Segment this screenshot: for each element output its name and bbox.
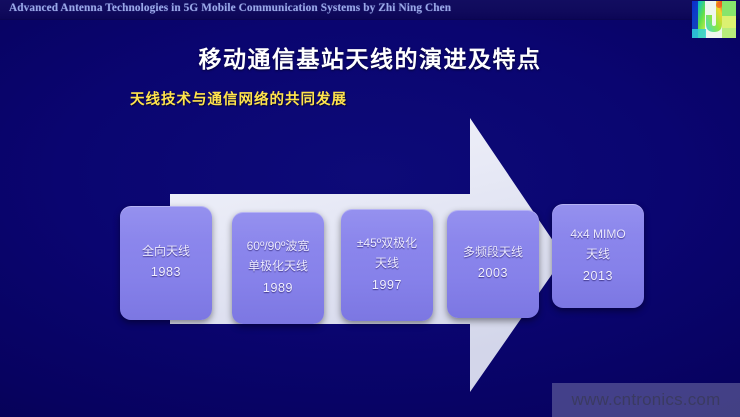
timeline-box-year: 2013: [583, 265, 613, 289]
page-subtitle: 天线技术与通信网络的共同发展: [130, 88, 347, 109]
timeline-box-year: 2003: [478, 262, 508, 286]
timeline-box-line: 单极化天线: [248, 256, 308, 277]
header-title: Advanced Antenna Technologies in 5G Mobi…: [9, 2, 451, 14]
timeline-box-line: 天线: [375, 253, 399, 274]
timeline-box-year: 1989: [263, 277, 293, 301]
timeline-box-year: 1983: [151, 261, 181, 285]
timeline-box-line: 60º/90º波宽: [247, 236, 310, 257]
antenna-simulation-logo-icon: [692, 1, 736, 38]
timeline-box-line: 全向天线: [142, 241, 190, 262]
page-title: 移动通信基站天线的演进及特点: [0, 40, 740, 74]
slide-canvas: Advanced Antenna Technologies in 5G Mobi…: [0, 0, 740, 417]
timeline-box-line: 多频段天线: [463, 242, 523, 263]
header-bar: Advanced Antenna Technologies in 5G Mobi…: [0, 0, 740, 20]
timeline-box[interactable]: ±45º双极化 天线 1997: [341, 209, 433, 321]
timeline-box-line: 天线: [586, 244, 610, 265]
timeline-box[interactable]: 4x4 MIMO 天线 2013: [552, 204, 644, 308]
timeline-box[interactable]: 60º/90º波宽 单极化天线 1989: [232, 212, 324, 324]
timeline-box-line: ±45º双极化: [357, 233, 417, 254]
timeline-box-year: 1997: [372, 274, 402, 298]
timeline-box[interactable]: 全向天线 1983: [120, 206, 212, 320]
timeline-box[interactable]: 多频段天线 2003: [447, 210, 539, 318]
watermark: www.cntronics.com: [552, 383, 740, 417]
timeline-box-line: 4x4 MIMO: [570, 224, 625, 245]
watermark-text: www.cntronics.com: [572, 390, 721, 410]
